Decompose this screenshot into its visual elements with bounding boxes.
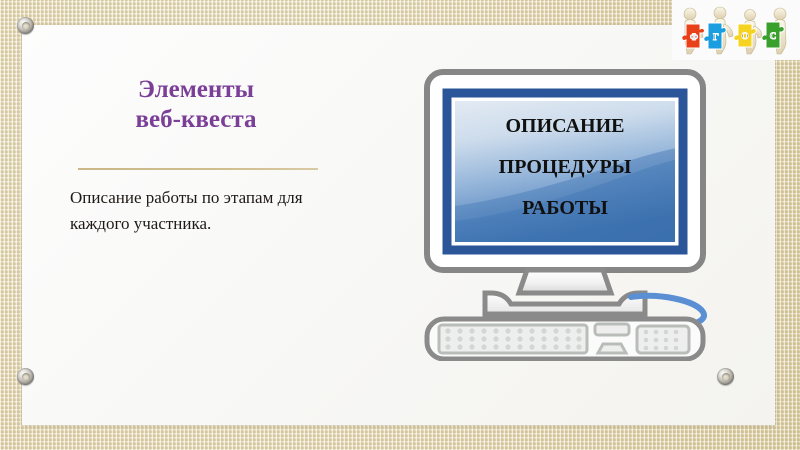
keyboard-nav-keys — [595, 324, 629, 335]
puzzle-letter-4: С — [770, 31, 777, 41]
text-column: Элементы веб-квеста Описание работы по э… — [46, 75, 346, 238]
puzzle-letter-2: Г — [713, 32, 719, 42]
keyboard — [427, 319, 703, 359]
slide-title: Элементы веб-квеста — [46, 75, 346, 134]
monitor-stand — [485, 270, 645, 314]
slide-canvas: Элементы веб-квеста Описание работы по э… — [0, 0, 800, 450]
screw-icon-bottom-left — [17, 368, 34, 385]
slide-body-text: Описание работы по этапам для каждого уч… — [70, 185, 352, 238]
computer-illustration: ОПИСАНИЕ ПРОЦЕДУРЫ РАБОТЫ — [415, 66, 715, 361]
title-divider-rule — [78, 168, 318, 170]
fgos-svg: Ф Г О С — [676, 2, 794, 58]
screw-icon-top-left — [17, 17, 34, 34]
computer-svg: ОПИСАНИЕ ПРОЦЕДУРЫ РАБОТЫ — [415, 66, 715, 361]
puzzle-letter-3: О — [741, 31, 748, 41]
screen-text-line-1: ОПИСАНИЕ — [505, 115, 624, 137]
keyboard-arrow-keys — [598, 344, 626, 353]
screen-text-line-3: РАБОТЫ — [522, 197, 608, 219]
fgos-puzzle-graphic: Ф Г О С — [676, 2, 794, 58]
screen-text-line-2: ПРОЦЕДУРЫ — [499, 156, 632, 178]
screw-icon-bottom-right — [717, 368, 734, 385]
puzzle-letter-1: Ф — [690, 32, 698, 42]
